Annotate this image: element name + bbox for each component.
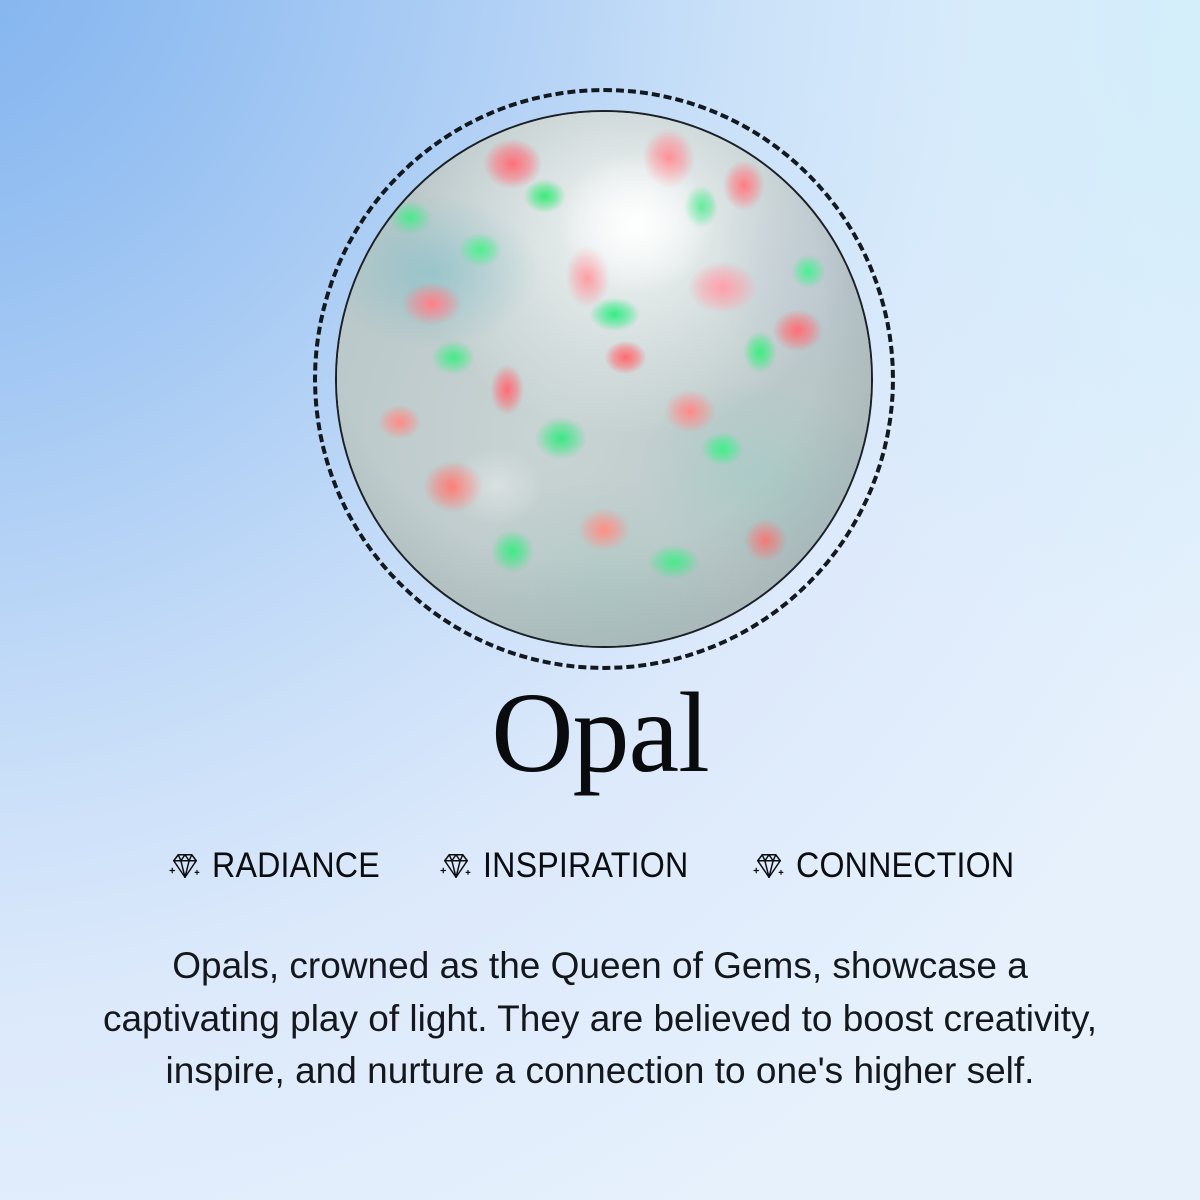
- keyword-label: CONNECTION: [796, 846, 1014, 886]
- keyword-item-connection: CONNECTION: [751, 846, 1033, 886]
- keyword-item-radiance: RADIANCE: [167, 846, 394, 886]
- diamond-gem-icon: [167, 848, 203, 884]
- keyword-label: INSPIRATION: [483, 846, 688, 886]
- diamond-gem-icon: [751, 848, 787, 884]
- description-text: Opals, crowned as the Queen of Gems, sho…: [100, 940, 1100, 1098]
- diamond-gem-icon: [438, 848, 474, 884]
- keyword-item-inspiration: INSPIRATION: [438, 846, 706, 886]
- page-title: Opal: [0, 676, 1200, 790]
- opal-edge-shading: [335, 110, 873, 648]
- keyword-row: RADIANCE INSPIRA: [0, 846, 1200, 886]
- gemstone-info-card: Opal RADIANCE: [0, 0, 1200, 1200]
- opal-gemstone-image: [335, 110, 873, 648]
- keyword-label: RADIANCE: [212, 846, 380, 886]
- gem-image-container: [313, 88, 895, 670]
